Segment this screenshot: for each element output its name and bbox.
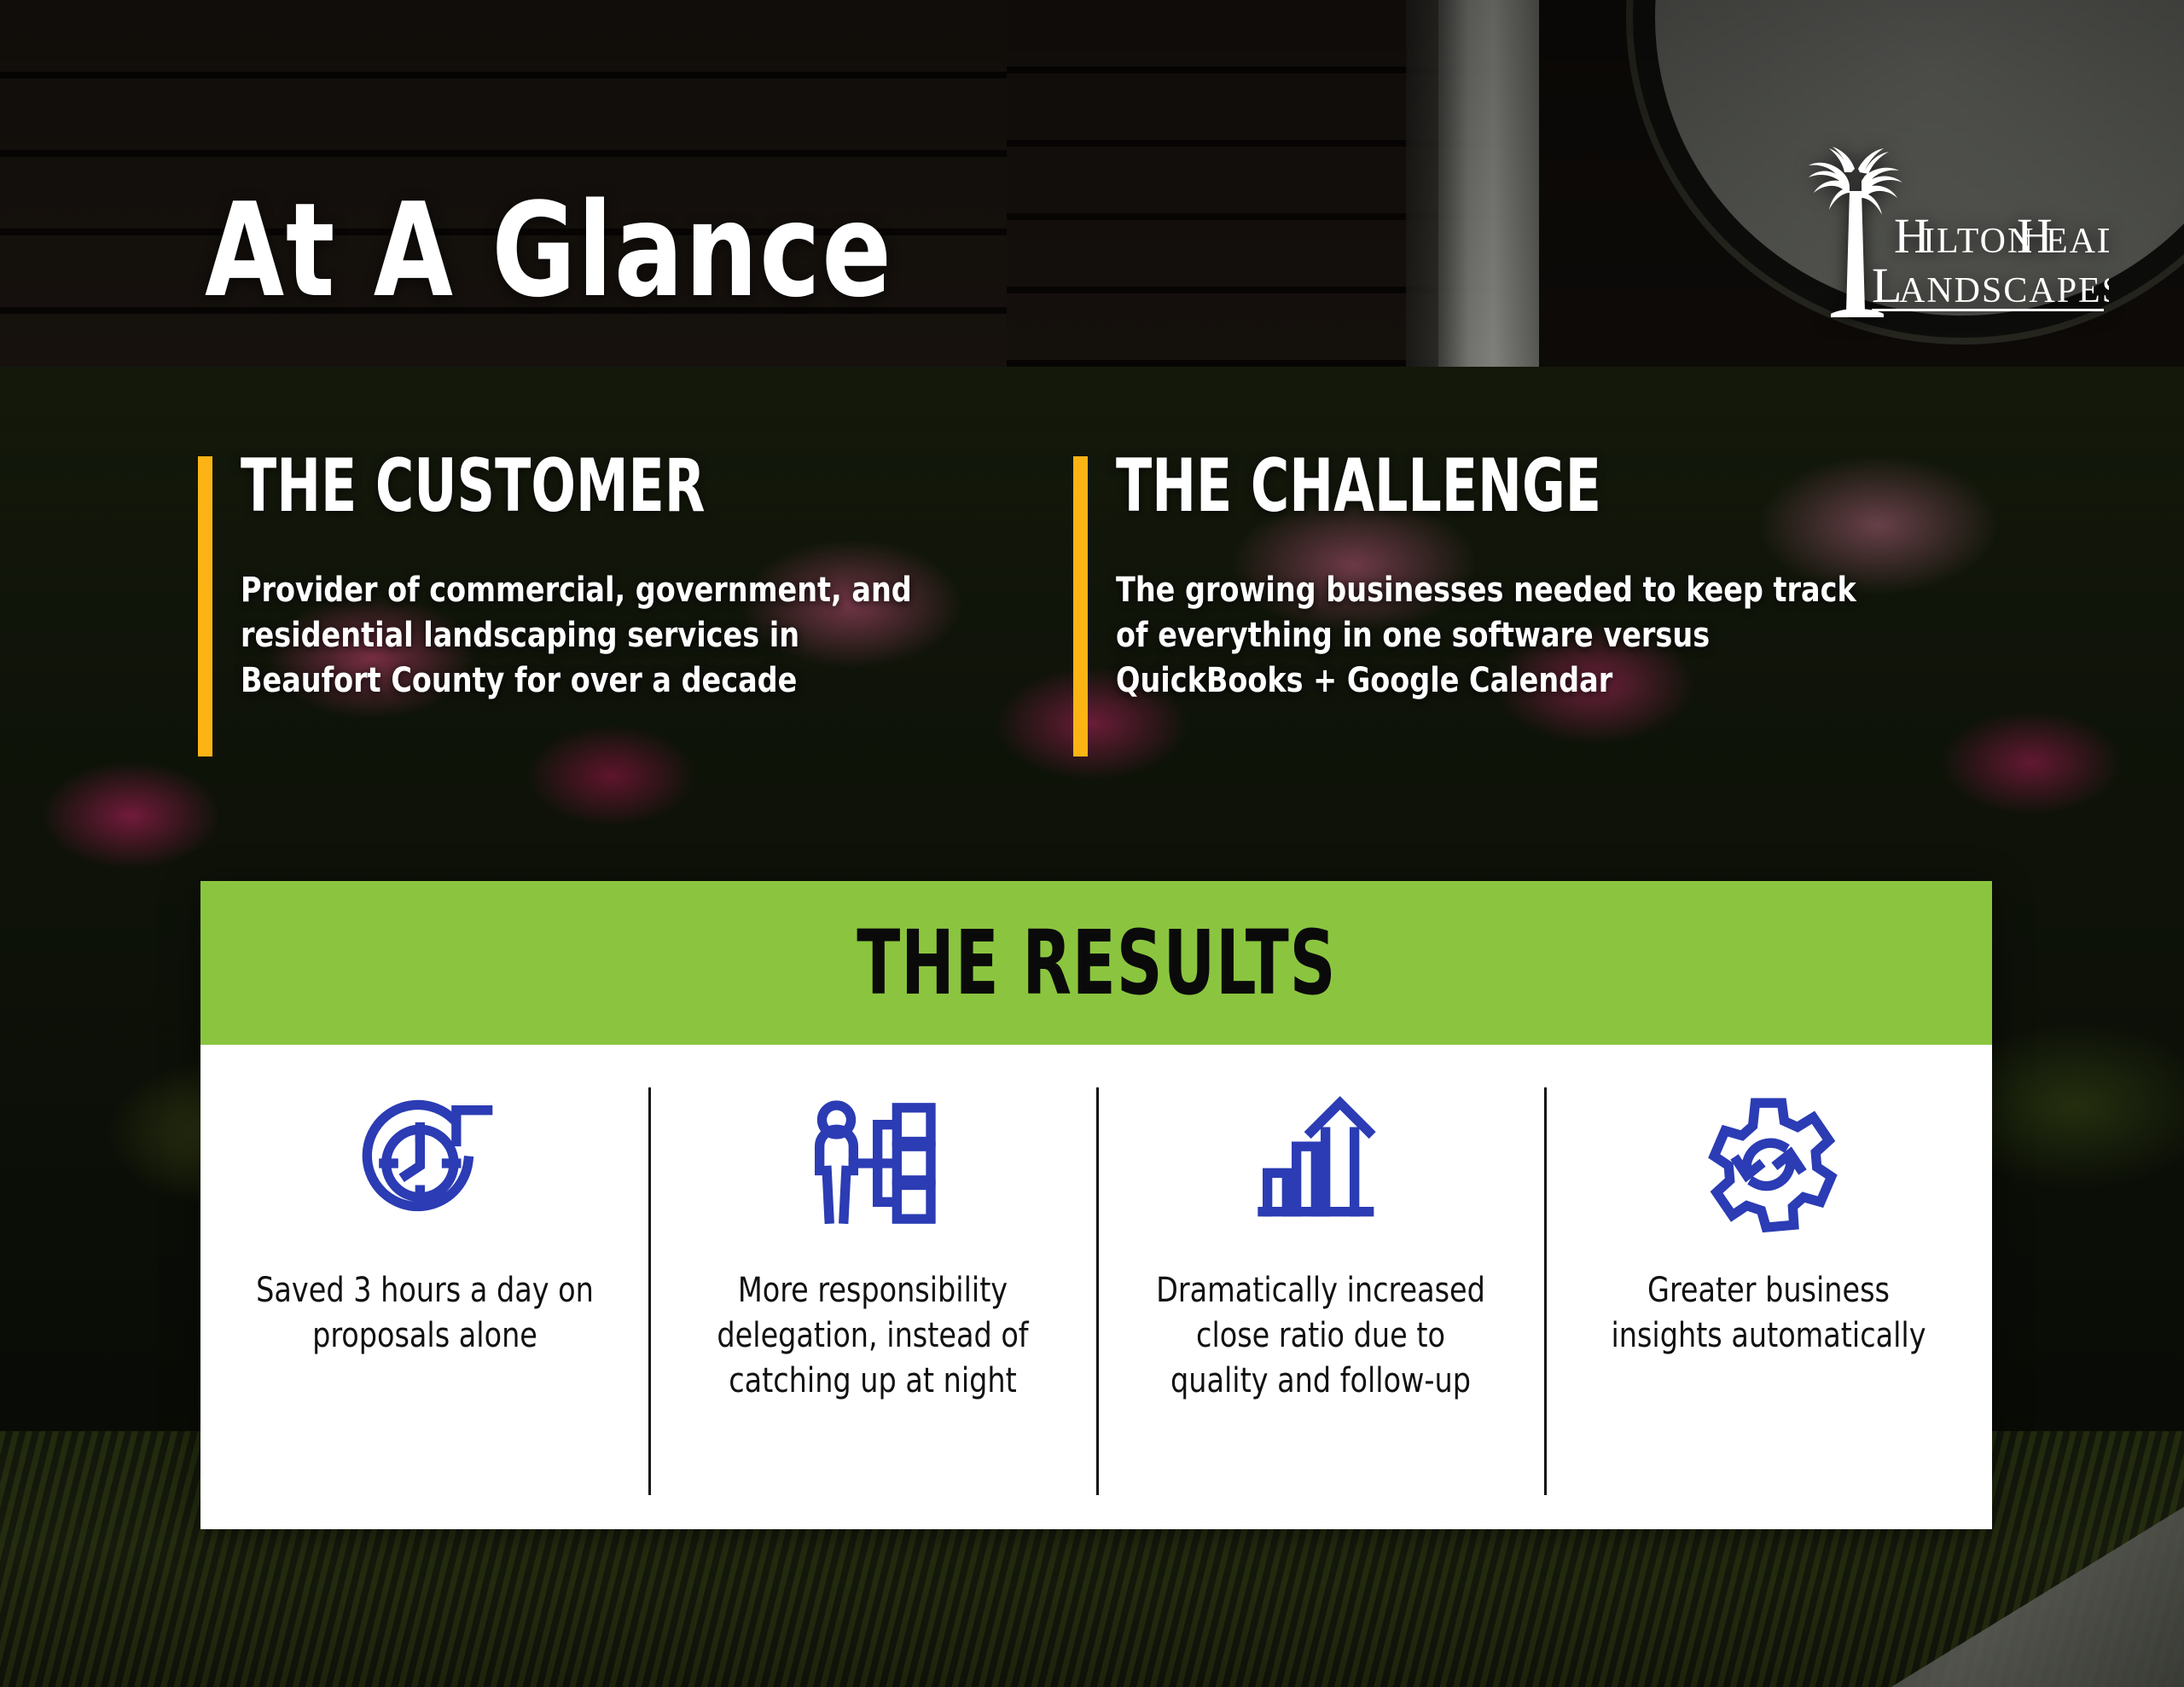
gear-refresh-icon bbox=[1696, 1091, 1841, 1236]
section-heading-challenge: THE CHALLENGE bbox=[1116, 450, 1764, 522]
results-banner-title: THE RESULTS bbox=[857, 919, 1336, 1007]
bar-chart-growth-arrow-icon bbox=[1248, 1091, 1393, 1236]
section-body-challenge: The growing businesses needed to keep tr… bbox=[1116, 568, 1870, 703]
infographic-canvas: At A Glance H ILTON H EAD L bbox=[0, 0, 2184, 1687]
svg-text:L: L bbox=[1872, 258, 1902, 313]
section-body-customer: Provider of commercial, government, and … bbox=[241, 568, 931, 703]
svg-text:ANDSCAPES: ANDSCAPES bbox=[1899, 271, 2109, 310]
result-item: More responsibility delegation, instead … bbox=[648, 1077, 1096, 1529]
result-caption: More responsibility delegation, instead … bbox=[702, 1268, 1043, 1403]
clock-refresh-icon bbox=[352, 1091, 497, 1236]
section-the-customer: THE CUSTOMER Provider of commercial, gov… bbox=[198, 450, 983, 704]
result-caption: Saved 3 hours a day on proposals alone bbox=[254, 1268, 595, 1359]
results-grid: Saved 3 hours a day on proposals alone bbox=[200, 1045, 1992, 1529]
page-title: At A Glance bbox=[205, 186, 893, 316]
brand-logo: H ILTON H EAD L ANDSCAPES HILTON HEAD LA… bbox=[1793, 143, 2109, 322]
results-banner: THE RESULTS bbox=[200, 881, 1992, 1045]
svg-text:EAD: EAD bbox=[2046, 222, 2109, 261]
section-heading-customer: THE CUSTOMER bbox=[241, 450, 834, 522]
result-item: Dramatically increased close ratio due t… bbox=[1096, 1077, 1544, 1529]
content-layer: At A Glance H ILTON H EAD L bbox=[0, 0, 2184, 1687]
result-item: Greater business insights automatically bbox=[1544, 1077, 1992, 1529]
person-org-chart-icon bbox=[800, 1091, 945, 1236]
result-item: Saved 3 hours a day on proposals alone bbox=[200, 1077, 648, 1529]
result-caption: Dramatically increased close ratio due t… bbox=[1150, 1268, 1491, 1403]
section-the-challenge: THE CHALLENGE The growing businesses nee… bbox=[1073, 450, 1926, 704]
results-card: THE RESULTS Saved 3 hours a day o bbox=[200, 881, 1992, 1529]
result-caption: Greater business insights automatically bbox=[1598, 1268, 1939, 1359]
